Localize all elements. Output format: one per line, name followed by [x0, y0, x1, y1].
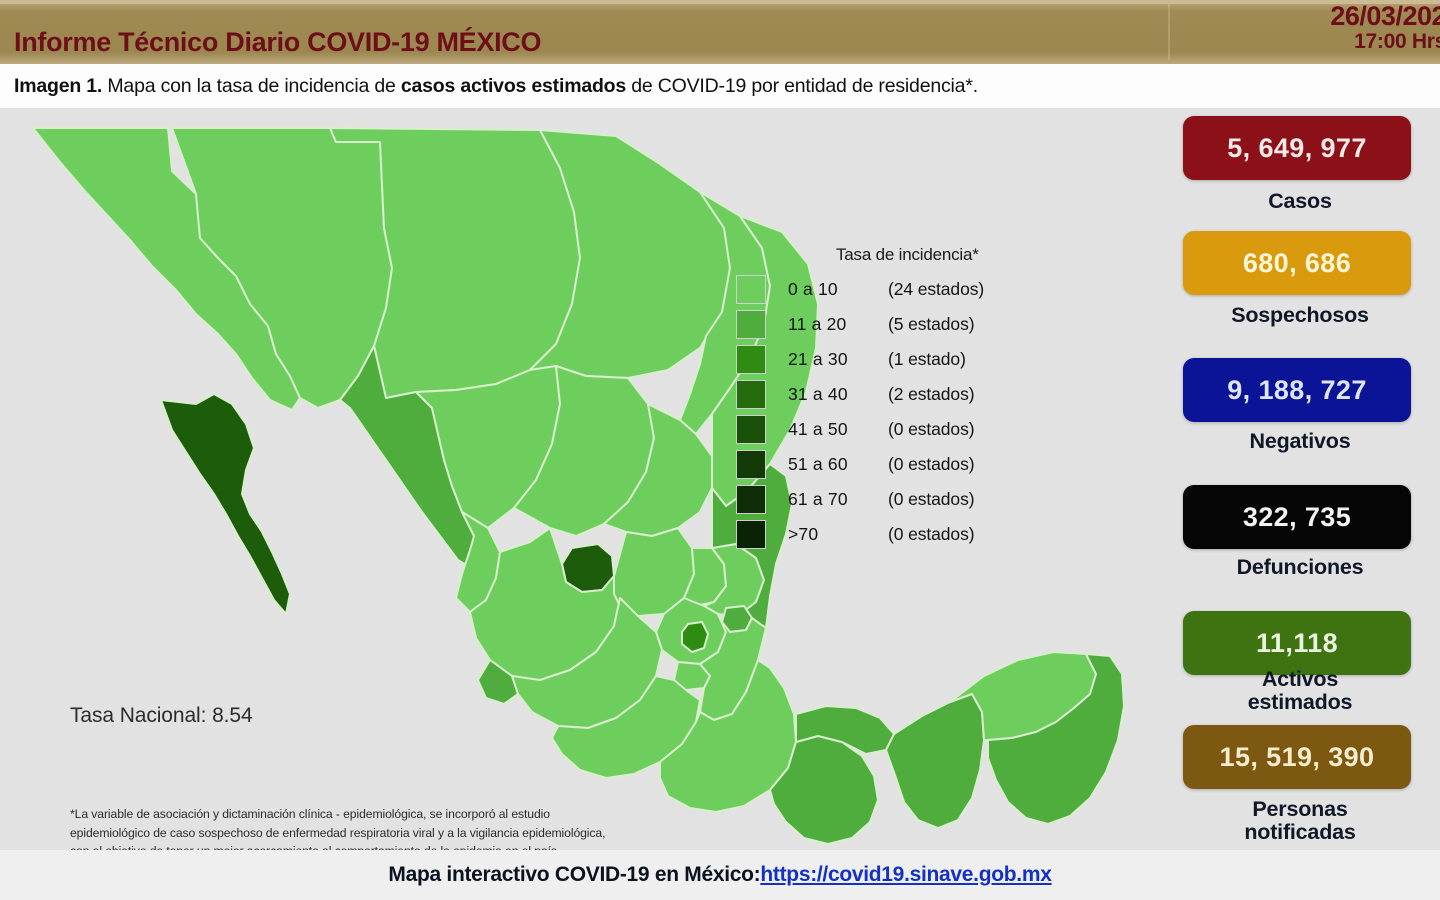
header-datetime: 26/03/202 17:00 Hrs — [1330, 2, 1440, 54]
header-top-accent — [0, 0, 1440, 4]
legend-row: 31 a 40(2 estados) — [736, 377, 1066, 412]
footnote-asterisk-line: *La variable de asociación y dictaminaci… — [70, 805, 605, 824]
stat-label: Defunciones — [1175, 556, 1425, 579]
stat-card: 9, 188, 727 — [1183, 358, 1411, 422]
caption-band: Imagen 1. Mapa con la tasa de incidencia… — [0, 64, 1440, 108]
caption-suffix: de COVID-19 por entidad de residencia*. — [626, 75, 978, 97]
stat-value: 322, 735 — [1243, 502, 1351, 533]
legend-count-label: (2 estados) — [888, 384, 974, 405]
legend-count-label: (5 estados) — [888, 314, 974, 335]
legend-swatch — [736, 345, 766, 374]
map-container[interactable]: Tasa Nacional: 8.54 Tasa de incidencia* … — [0, 108, 1175, 850]
legend-swatch — [736, 415, 766, 444]
stat-value: 680, 686 — [1243, 248, 1351, 279]
legend-range-label: 41 a 50 — [766, 419, 888, 440]
stat-label: Casos — [1175, 190, 1425, 213]
legend-rows: 0 a 10(24 estados)11 a 20(5 estados)21 a… — [736, 272, 1066, 552]
interactive-map-label: Mapa interactivo COVID-19 en México: — [388, 863, 760, 887]
state-campeche — [886, 694, 984, 828]
stat-value: 9, 188, 727 — [1227, 375, 1367, 406]
stat-label: Personasnotificadas — [1175, 798, 1425, 844]
legend-swatch — [736, 520, 766, 549]
legend-count-label: (0 estados) — [888, 454, 974, 475]
stat-value: 15, 519, 390 — [1220, 742, 1375, 773]
stat-card: 322, 735 — [1183, 485, 1411, 549]
stat-card: 15, 519, 390 — [1183, 725, 1411, 789]
legend-swatch — [736, 450, 766, 479]
legend-range-label: 31 a 40 — [766, 384, 888, 405]
legend-row: 11 a 20(5 estados) — [736, 307, 1066, 342]
stat-label: Sospechosos — [1175, 304, 1425, 327]
header-time: 17:00 Hrs — [1330, 31, 1440, 54]
caption-emphasis: casos activos estimados — [401, 75, 626, 97]
stat-label: Negativos — [1175, 430, 1425, 453]
statistics-sidebar: 5, 649, 977Casos680, 686Sospechosos9, 18… — [1175, 108, 1440, 850]
state-baja-california-sur — [161, 394, 290, 614]
stat-card: 680, 686 — [1183, 231, 1411, 295]
legend-swatch — [736, 485, 766, 514]
caption-figure-number: Imagen 1. — [14, 75, 102, 97]
legend-swatch — [736, 310, 766, 339]
legend-range-label: 0 a 10 — [766, 279, 888, 300]
legend-range-label: 51 a 60 — [766, 454, 888, 475]
header-band: Informe Técnico Diario COVID-19 MÉXICO 2… — [0, 0, 1440, 64]
report-page: Informe Técnico Diario COVID-19 MÉXICO 2… — [0, 0, 1440, 900]
stat-card: 11,118 — [1183, 611, 1411, 675]
page-title: Informe Técnico Diario COVID-19 MÉXICO — [14, 27, 541, 58]
legend-range-label: 21 a 30 — [766, 349, 888, 370]
legend-count-label: (1 estado) — [888, 349, 966, 370]
legend-swatch — [736, 275, 766, 304]
header-date: 26/03/202 — [1330, 2, 1440, 31]
legend-row: 21 a 30(1 estado) — [736, 342, 1066, 377]
bottom-link-bar: Mapa interactivo COVID-19 en México: htt… — [0, 850, 1440, 900]
footnote-asterisk-line: con el objetivo de tener un mejor acerca… — [70, 842, 605, 850]
legend-row: 51 a 60(0 estados) — [736, 447, 1066, 482]
legend-title: Tasa de incidencia* — [836, 245, 1066, 265]
footnote-asterisk-line: epidemiológico de caso sospechoso de enf… — [70, 824, 605, 843]
national-rate-label: Tasa Nacional: 8.54 — [70, 704, 253, 728]
stat-card: 5, 649, 977 — [1183, 116, 1411, 180]
legend-row: 61 a 70(0 estados) — [736, 482, 1066, 517]
legend-swatch — [736, 380, 766, 409]
legend-range-label: 61 a 70 — [766, 489, 888, 510]
state-ciudad-de-mexico — [682, 622, 708, 652]
legend-row: 0 a 10(24 estados) — [736, 272, 1066, 307]
header-divider — [1168, 4, 1170, 60]
figure-caption: Imagen 1. Mapa con la tasa de incidencia… — [0, 75, 978, 98]
caption-middle: Mapa con la tasa de incidencia de — [102, 75, 401, 97]
legend-row: 41 a 50(0 estados) — [736, 412, 1066, 447]
stat-value: 5, 649, 977 — [1227, 133, 1367, 164]
legend-range-label: 11 a 20 — [766, 314, 888, 335]
legend-count-label: (0 estados) — [888, 524, 974, 545]
legend-count-label: (0 estados) — [888, 489, 974, 510]
map-legend: Tasa de incidencia* 0 a 10(24 estados)11… — [736, 245, 1066, 552]
stat-value: 11,118 — [1256, 628, 1338, 659]
legend-row: >70(0 estados) — [736, 517, 1066, 552]
legend-count-label: (0 estados) — [888, 419, 974, 440]
legend-range-label: >70 — [766, 524, 888, 545]
stat-label: Activosestimados — [1175, 668, 1425, 714]
interactive-map-link[interactable]: https://covid19.sinave.gob.mx — [760, 863, 1051, 887]
footnote-asterisk: *La variable de asociación y dictaminaci… — [70, 805, 605, 850]
legend-count-label: (24 estados) — [888, 279, 984, 300]
